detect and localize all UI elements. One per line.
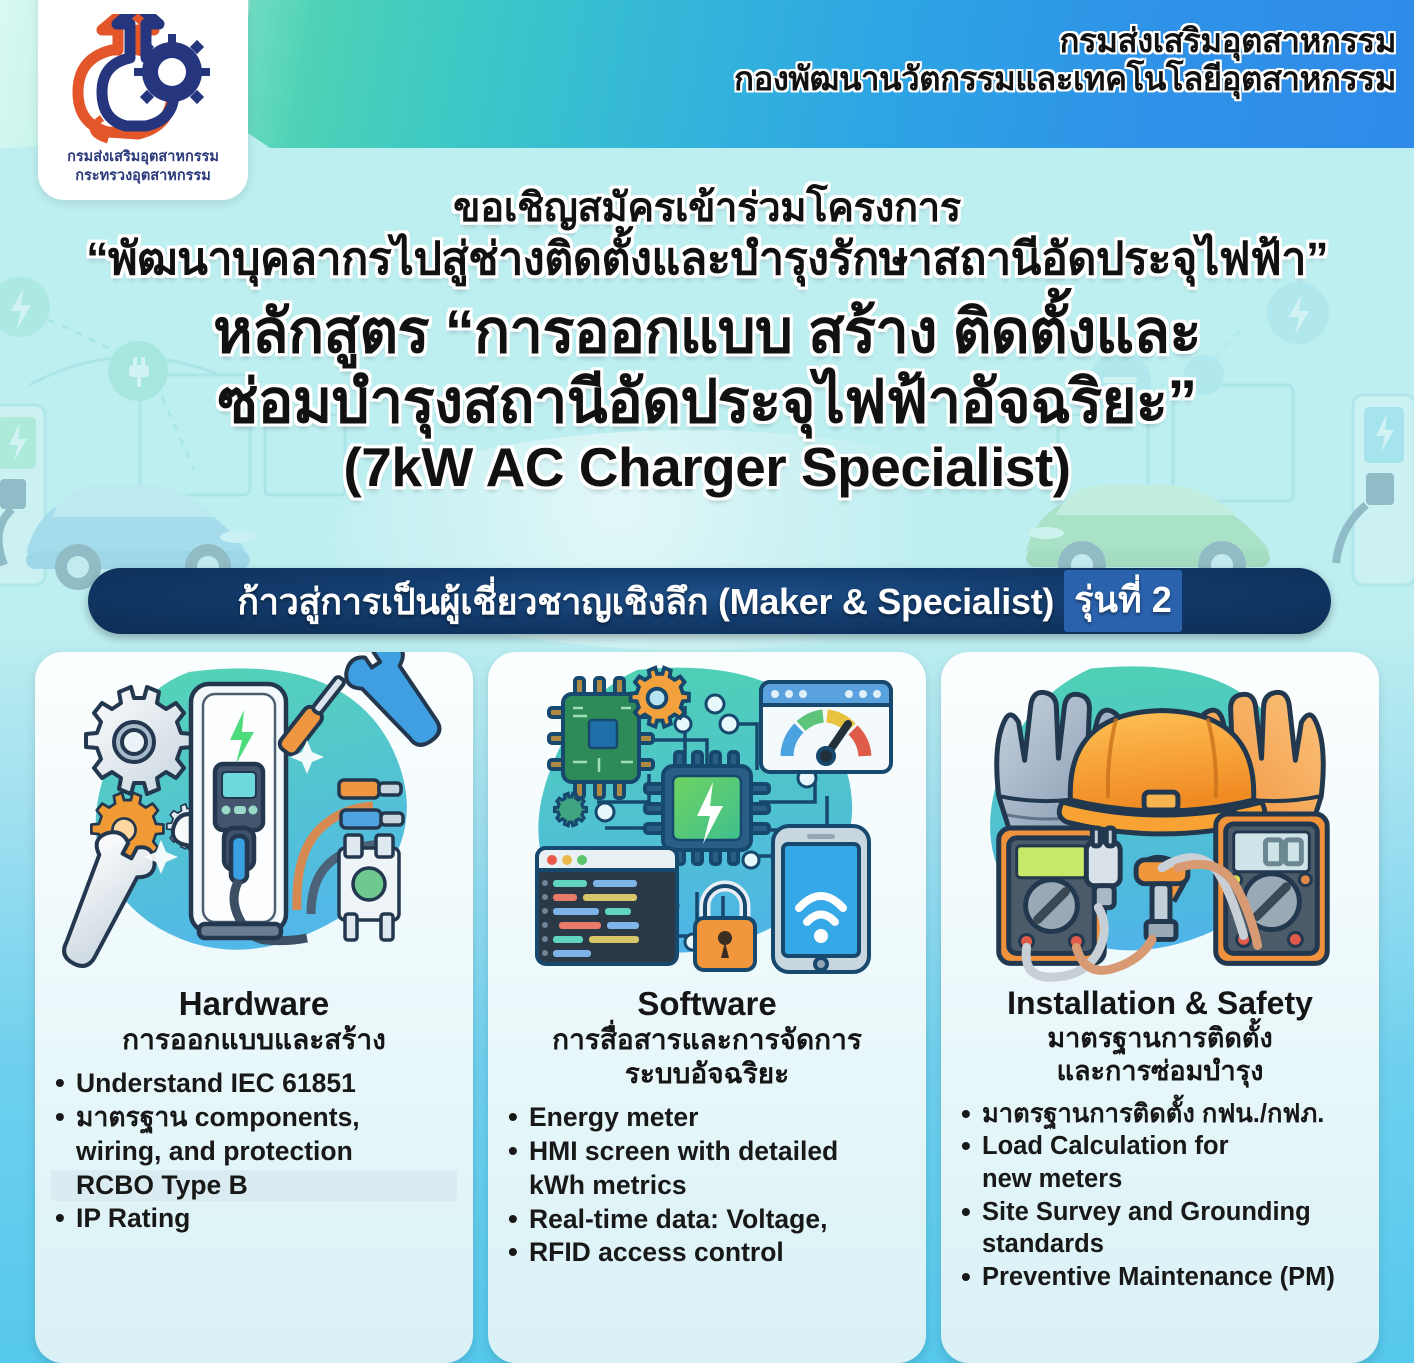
course-title-line2: ซ่อมบำรุงสถานีอัดประจุไฟฟ้าอัจฉริยะ”: [0, 367, 1414, 437]
list-item: มาตรฐานการติดตั้ง กฟน./กฟภ.: [957, 1099, 1363, 1130]
course-title: หลักสูตร “การออกแบบ สร้าง ติดตั้งและ ซ่อ…: [0, 297, 1414, 500]
logo-caption-line1: กรมส่งเสริมอุตสาหกรรม: [67, 148, 219, 167]
list-item: standards: [957, 1229, 1363, 1260]
list-item: new meters: [957, 1164, 1363, 1195]
list-item: kWh metrics: [504, 1170, 910, 1202]
list-item: RCBO Type B: [51, 1170, 457, 1202]
list-item: RFID access control: [504, 1237, 910, 1269]
software-illustration: [488, 652, 926, 982]
software-title: Software: [504, 986, 910, 1022]
list-item: Real-time data: Voltage,: [504, 1204, 910, 1236]
hardware-subtitle: การออกแบบและสร้าง: [51, 1024, 457, 1056]
banner-text: ก้าวสู่การเป็นผู้เชี่ยวชาญเชิงลึก (Maker…: [237, 573, 1054, 630]
list-item: Load Calculation for: [957, 1131, 1363, 1162]
installation-title: Installation & Safety: [957, 986, 1363, 1021]
software-subtitle-line2: ระบบอัจฉริยะ: [504, 1058, 910, 1090]
org-name-line1: กรมส่งเสริมอุตสาหกรรม: [734, 22, 1396, 60]
hardware-bullet-list: Understand IEC 61851 มาตรฐาน components,…: [51, 1068, 457, 1235]
hardware-illustration: [35, 652, 473, 982]
list-item: มาตรฐาน components,: [51, 1102, 457, 1134]
list-item: Understand IEC 61851: [51, 1068, 457, 1100]
list-item: HMI screen with detailed: [504, 1136, 910, 1168]
title-block: ขอเชิญสมัครเข้าร่วมโครงการ “พัฒนาบุคลากร…: [0, 186, 1414, 500]
installation-safety-illustration: [941, 652, 1379, 982]
list-item: wiring, and protection: [51, 1136, 457, 1168]
organization-logo-card: กรมส่งเสริมอุตสาหกรรม กระทรวงอุตสาหกรรม: [38, 0, 248, 200]
course-title-line1: หลักสูตร “การออกแบบ สร้าง ติดตั้งและ: [0, 297, 1414, 367]
software-bullet-list: Energy meter HMI screen with detailed kW…: [504, 1102, 910, 1269]
installation-subtitle-line1: มาตรฐานการติดตั้ง: [957, 1023, 1363, 1054]
subtitle-banner: ก้าวสู่การเป็นผู้เชี่ยวชาญเชิงลึก (Maker…: [88, 568, 1331, 634]
dip-logo-icon: [68, 14, 218, 146]
logo-caption-line2: กระทรวงอุตสาหกรรม: [75, 167, 211, 186]
installation-card-body: Installation & Safety มาตรฐานการติดตั้ง …: [941, 982, 1379, 1304]
list-item: Preventive Maintenance (PM): [957, 1262, 1363, 1293]
project-title: “พัฒนาบุคลากรไปสู่ช่างติดตั้งและบำรุงรัก…: [0, 233, 1414, 285]
card-software[interactable]: Software การสื่อสารและการจัดการ ระบบอัจฉ…: [488, 652, 926, 1363]
card-installation-safety[interactable]: Installation & Safety มาตรฐานการติดตั้ง …: [941, 652, 1379, 1363]
organization-header: กรมส่งเสริมอุตสาหกรรม กองพัฒนานวัตกรรมแล…: [734, 22, 1396, 99]
hardware-card-body: Hardware การออกแบบและสร้าง Understand IE…: [35, 982, 473, 1247]
list-item: IP Rating: [51, 1203, 457, 1235]
org-name-line2: กองพัฒนานวัตกรรมและเทคโนโลยีอุตสาหกรรม: [734, 60, 1396, 98]
list-item: Site Survey and Grounding: [957, 1197, 1363, 1228]
installation-bullet-list: มาตรฐานการติดตั้ง กฟน./กฟภ. Load Calcula…: [957, 1099, 1363, 1293]
software-card-body: Software การสื่อสารและการจัดการ ระบบอัจฉ…: [488, 982, 926, 1281]
banner-batch-badge: รุ่นที่ 2: [1064, 570, 1182, 632]
list-item: Energy meter: [504, 1102, 910, 1134]
course-title-line3: (7kW AC Charger Specialist): [0, 436, 1414, 500]
installation-subtitle-line2: และการซ่อมบำรุง: [957, 1056, 1363, 1087]
hardware-title: Hardware: [51, 986, 457, 1022]
software-subtitle-line1: การสื่อสารและการจัดการ: [504, 1024, 910, 1056]
card-hardware[interactable]: Hardware การออกแบบและสร้าง Understand IE…: [35, 652, 473, 1363]
topics-card-row: Hardware การออกแบบและสร้าง Understand IE…: [0, 652, 1414, 1363]
